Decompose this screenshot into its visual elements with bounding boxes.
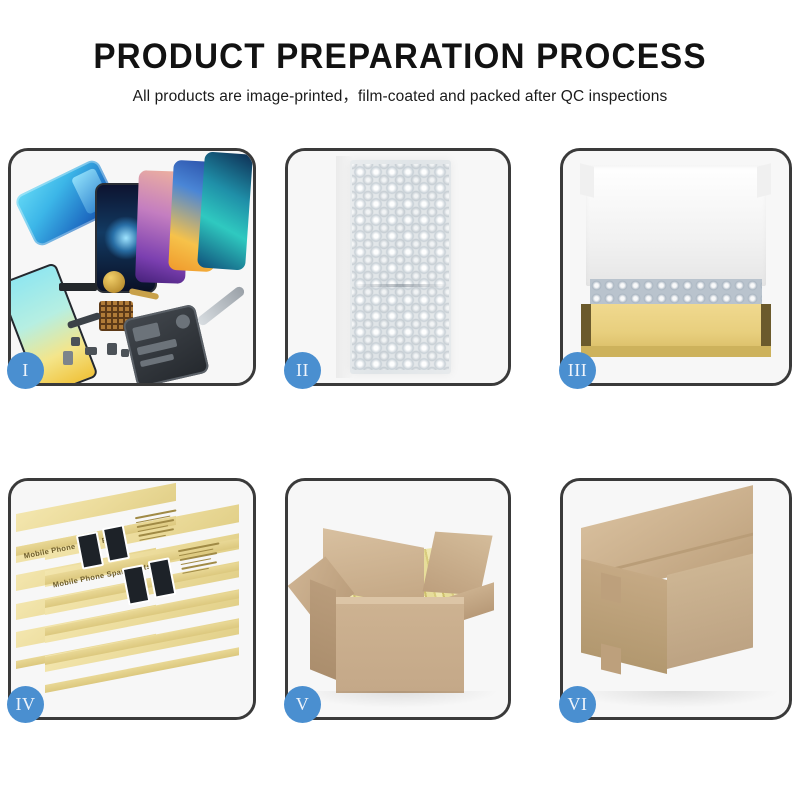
step-card-1[interactable]: I bbox=[8, 148, 256, 386]
process-step-grid: I II III bbox=[0, 146, 800, 726]
part-dot-e bbox=[63, 351, 73, 365]
product-preparation-infographic: PRODUCT PREPARATION PROCESS All products… bbox=[0, 0, 800, 800]
sealed-carton-tape-lower bbox=[601, 644, 621, 675]
step-badge-6: VI bbox=[559, 686, 596, 723]
bubble-wrap-pouch bbox=[350, 160, 451, 373]
phone-screen-teal bbox=[197, 151, 253, 270]
step-badge-2: II bbox=[284, 352, 321, 389]
phone-back-housing bbox=[122, 304, 210, 383]
box-white-lid bbox=[586, 165, 767, 286]
carton-shadow bbox=[297, 691, 499, 708]
part-dot-b bbox=[85, 347, 97, 355]
phone-parts-icon bbox=[11, 151, 253, 383]
open-carton-icon bbox=[288, 481, 508, 717]
box-spec-lines-top bbox=[135, 507, 192, 544]
step-card-5[interactable]: V bbox=[285, 478, 511, 720]
sealed-carton-shadow bbox=[572, 691, 780, 708]
bubble-wrap-icon bbox=[288, 151, 508, 383]
open-box-icon bbox=[563, 151, 789, 383]
page-title: PRODUCT PREPARATION PROCESS bbox=[20, 34, 780, 80]
sealed-carton-icon bbox=[563, 481, 789, 717]
part-tweezers bbox=[196, 285, 246, 327]
part-dot-c bbox=[107, 343, 117, 355]
sealed-carton-left-panel bbox=[581, 559, 667, 675]
header: PRODUCT PREPARATION PROCESS All products… bbox=[0, 34, 800, 108]
sealed-carton-tape-upper bbox=[601, 573, 621, 604]
step-badge-3: III bbox=[559, 352, 596, 389]
step-card-2[interactable]: II bbox=[285, 148, 511, 386]
wrap-seam bbox=[350, 284, 451, 287]
step-card-3[interactable]: III bbox=[560, 148, 792, 386]
box-stack-icon: Mobile Phone Spare Parts Mobile Phone Sp… bbox=[11, 481, 253, 717]
step-card-4[interactable]: Mobile Phone Spare Parts Mobile Phone Sp… bbox=[8, 478, 256, 720]
step-badge-1: I bbox=[7, 352, 44, 389]
box-base-lip bbox=[581, 346, 771, 358]
retail-box-stack: Mobile Phone Spare Parts Mobile Phone Sp… bbox=[11, 481, 253, 717]
step-badge-5: V bbox=[284, 686, 321, 723]
carton-front-panel bbox=[336, 604, 464, 694]
part-speaker-coil bbox=[103, 271, 125, 293]
carton-side-panel bbox=[310, 579, 336, 679]
part-dot-a bbox=[71, 337, 80, 346]
sealed-carton-right-panel bbox=[667, 554, 753, 670]
step-badge-4: IV bbox=[7, 686, 44, 723]
step-card-6[interactable]: VI bbox=[560, 478, 792, 720]
part-dot-d bbox=[121, 349, 129, 357]
part-connector-bar bbox=[59, 283, 97, 291]
page-subtitle: All products are image-printed，film-coat… bbox=[0, 86, 800, 108]
bubble-layer-back bbox=[352, 164, 449, 369]
